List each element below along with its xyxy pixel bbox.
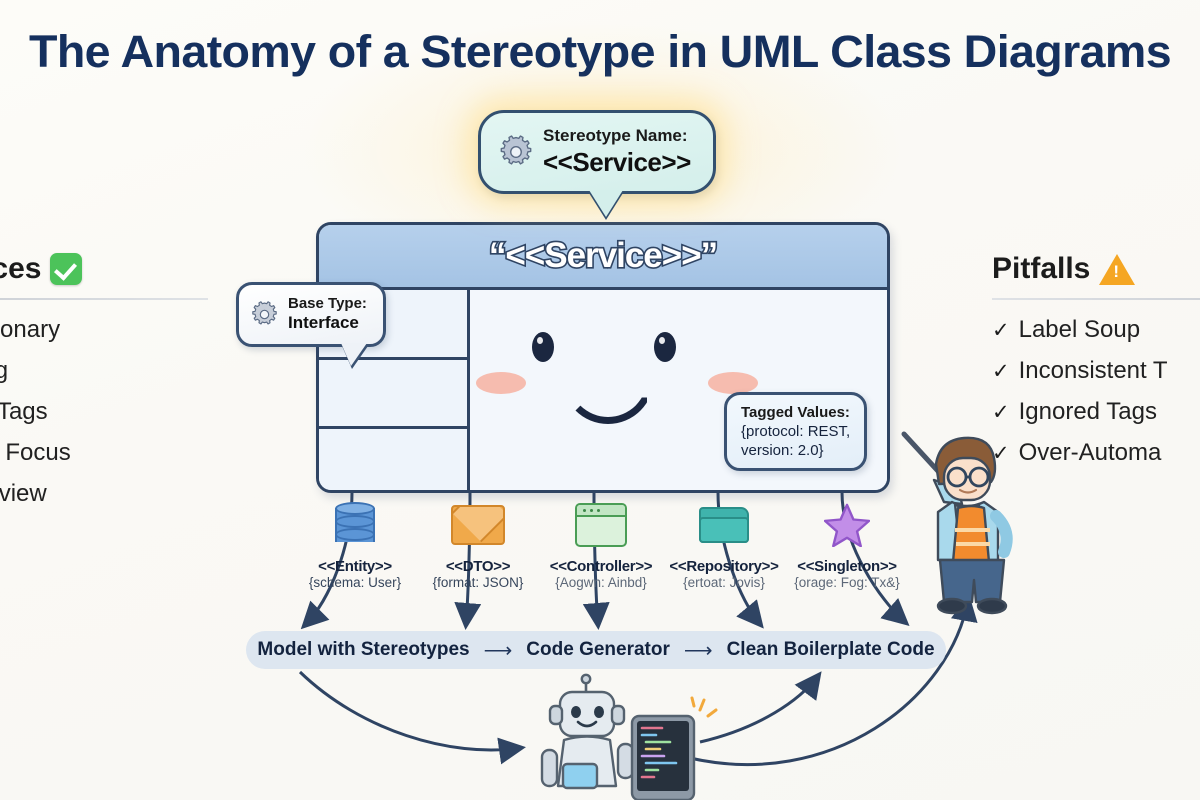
- best-practices-panel: Practices fine Dictionary it Nesting nsi…: [0, 252, 208, 521]
- pipeline-flow-bar: Model with Stereotypes ⟶ Code Generator …: [246, 631, 946, 669]
- list-item: it Nesting: [0, 357, 208, 385]
- infographic-canvas: The Anatomy of a Stereotype in UML Class…: [0, 0, 1200, 800]
- list-item: straction Focus: [0, 439, 208, 467]
- list-item: ✓ Ignored Tags: [992, 398, 1200, 426]
- blush-left-icon: [476, 372, 526, 394]
- practice-label: nsistent Tags: [0, 398, 48, 426]
- flow-step-3: Clean Boilerplate Code: [727, 639, 935, 661]
- practice-label: fine Dictionary: [0, 316, 60, 344]
- presenter-illustration: [900, 430, 1045, 625]
- list-item: ✓ Inconsistent T: [992, 357, 1200, 385]
- list-item: ✓ Label Soup: [992, 316, 1200, 344]
- folder-icon: [665, 498, 783, 552]
- gear-icon: [251, 301, 278, 328]
- tablet-icon: [632, 698, 716, 800]
- stereotype-callout-text: Stereotype Name: <<Service>>: [543, 126, 691, 178]
- best-practices-heading: Practices: [0, 252, 208, 286]
- sparkle-icon: [692, 698, 716, 716]
- list-item: nsistent Tags: [0, 398, 208, 426]
- class-header: “<<Service>>”: [319, 225, 887, 290]
- stereotype-item-repository: <<Repository>> {ertoat: Jovis}: [665, 498, 783, 590]
- eye-left-icon: [532, 332, 554, 362]
- stereotype-name-callout: Stereotype Name: <<Service>>: [478, 110, 716, 194]
- check-mark-icon: ✓: [992, 400, 1010, 425]
- check-mark-icon: ✓: [992, 359, 1010, 384]
- base-type-callout-text: Base Type: Interface: [288, 295, 367, 334]
- practice-label: gular Review: [0, 480, 47, 508]
- check-badge-icon: [50, 253, 82, 285]
- best-practices-heading-text: Practices: [0, 252, 41, 286]
- flow-step-1: Model with Stereotypes: [257, 639, 469, 661]
- list-item: fine Dictionary: [0, 316, 208, 344]
- stereotype-name: <<DTO>>: [419, 558, 537, 575]
- best-practices-list: fine Dictionary it Nesting nsistent Tags…: [0, 316, 208, 508]
- gear-icon: [499, 135, 533, 169]
- stereotype-item-controller: <<Controller>> {Aogwn: Ainbd}: [542, 498, 660, 590]
- list-item: gular Review: [0, 480, 208, 508]
- tagged-values-line-2: version: 2.0}: [741, 442, 824, 459]
- pitfall-label: Ignored Tags: [1019, 398, 1157, 426]
- stereotype-tag: {schema: User}: [296, 575, 414, 590]
- stereotype-name: <<Singleton>>: [788, 558, 906, 575]
- stereotype-item-dto: <<DTO>> {format: JSON}: [419, 498, 537, 590]
- blush-right-icon: [708, 372, 758, 394]
- class-header-label: “<<Service>>”: [489, 236, 717, 276]
- window-icon: [542, 498, 660, 552]
- pitfall-label: Inconsistent T: [1019, 357, 1168, 385]
- tagged-values-line-1: {protocol: REST,: [741, 423, 850, 440]
- base-type-callout-value: Interface: [288, 313, 367, 334]
- bubble-tail: [589, 190, 623, 217]
- stereotype-tag: {format: JSON}: [419, 575, 537, 590]
- stereotype-icon-row: <<Entity>> {schema: User} <<DTO>> {forma…: [296, 498, 906, 590]
- pitfall-label: Label Soup: [1019, 316, 1140, 344]
- pitfalls-heading-text: Pitfalls: [992, 252, 1090, 286]
- panel-divider-right: [992, 298, 1200, 300]
- stereotype-name: <<Entity>>: [296, 558, 414, 575]
- smile-icon: [562, 372, 654, 424]
- class-compartment: [319, 429, 467, 493]
- eye-right-icon: [654, 332, 676, 362]
- stereotype-callout-value: <<Service>>: [543, 147, 691, 179]
- warning-triangle-icon: [1099, 254, 1135, 285]
- stereotype-tag: {ertoat: Jovis}: [665, 575, 783, 590]
- flow-arrow-icon: ⟶: [684, 638, 713, 663]
- panel-divider-left: [0, 298, 208, 300]
- database-icon: [296, 498, 414, 552]
- practice-label: straction Focus: [0, 439, 71, 467]
- envelope-icon: [419, 498, 537, 552]
- star-icon: [788, 498, 906, 552]
- stereotype-tag: {Aogwn: Ainbd}: [542, 575, 660, 590]
- safety-vest-icon: [953, 506, 989, 562]
- stereotype-tag: {orage: Fog: Tx&}: [788, 575, 906, 590]
- robot-illustration: [520, 672, 720, 800]
- bubble-tail: [341, 343, 367, 366]
- tagged-values-callout: Tagged Values: {protocol: REST, version:…: [724, 392, 867, 471]
- practice-label: it Nesting: [0, 357, 8, 385]
- stereotype-name: <<Repository>>: [665, 558, 783, 575]
- pitfalls-heading: Pitfalls: [992, 252, 1200, 286]
- flow-arrow-icon: ⟶: [484, 638, 513, 663]
- class-compartment: [319, 360, 467, 430]
- stereotype-item-entity: <<Entity>> {schema: User}: [296, 498, 414, 590]
- stereotype-callout-label: Stereotype Name:: [543, 126, 691, 147]
- base-type-callout-label: Base Type:: [288, 295, 367, 313]
- flow-step-2: Code Generator: [526, 639, 670, 661]
- tagged-values-label: Tagged Values:: [741, 404, 850, 421]
- stereotype-item-singleton: <<Singleton>> {orage: Fog: Tx&}: [788, 498, 906, 590]
- stereotype-name: <<Controller>>: [542, 558, 660, 575]
- base-type-callout: Base Type: Interface: [236, 282, 386, 347]
- check-mark-icon: ✓: [992, 318, 1010, 343]
